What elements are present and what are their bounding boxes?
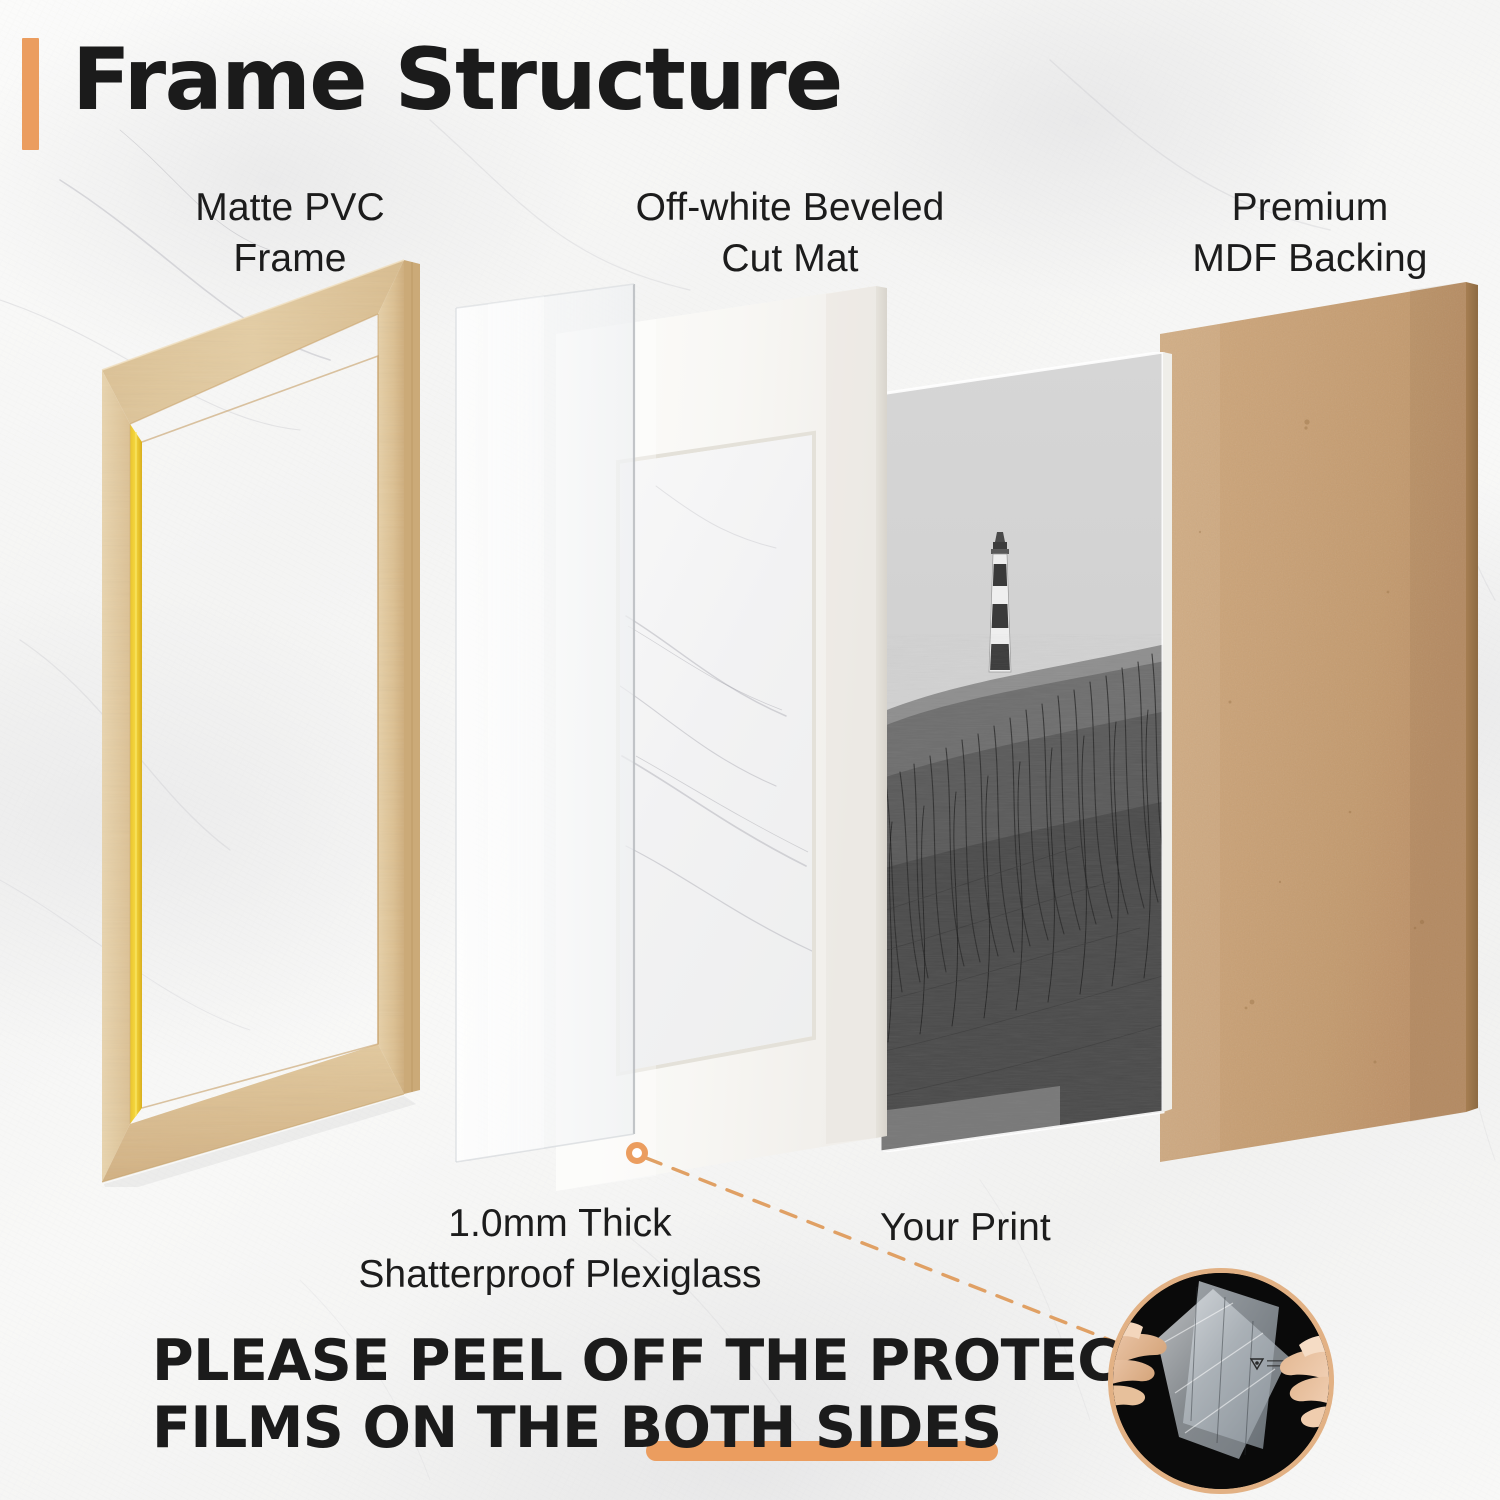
banner-line-1: PLEASE PEEL OFF THE PROTECTIVE	[152, 1328, 1072, 1395]
callout-marker-dot	[626, 1142, 648, 1164]
peel-instruction-banner: PLEASE PEEL OFF THE PROTECTIVE FILMS ON …	[152, 1328, 1072, 1463]
banner-line-2-prefix: FILMS ON THE	[152, 1395, 620, 1461]
label-beveled-cut-mat: Off-white Beveled Cut Mat	[560, 182, 1020, 285]
peel-film-photo-inset	[1108, 1268, 1334, 1494]
banner-line-2: FILMS ON THE BOTH SIDES	[152, 1395, 1002, 1462]
label-matte-pvc-frame: Matte PVC Frame	[110, 182, 470, 285]
layer-shatterproof-plexiglass	[448, 272, 648, 1177]
layer-your-print	[880, 352, 1175, 1152]
layer-mdf-backing	[1160, 282, 1490, 1162]
label-mdf-backing: Premium MDF Backing	[1130, 182, 1490, 285]
page-title: Frame Structure	[72, 34, 842, 127]
peel-film-photo	[1113, 1273, 1329, 1489]
title-accent-bar	[22, 38, 39, 150]
infographic-canvas: Frame Structure	[0, 0, 1500, 1500]
layer-matte-pvc-frame	[86, 252, 454, 1187]
banner-line-2-highlight: BOTH SIDES	[620, 1395, 1002, 1461]
